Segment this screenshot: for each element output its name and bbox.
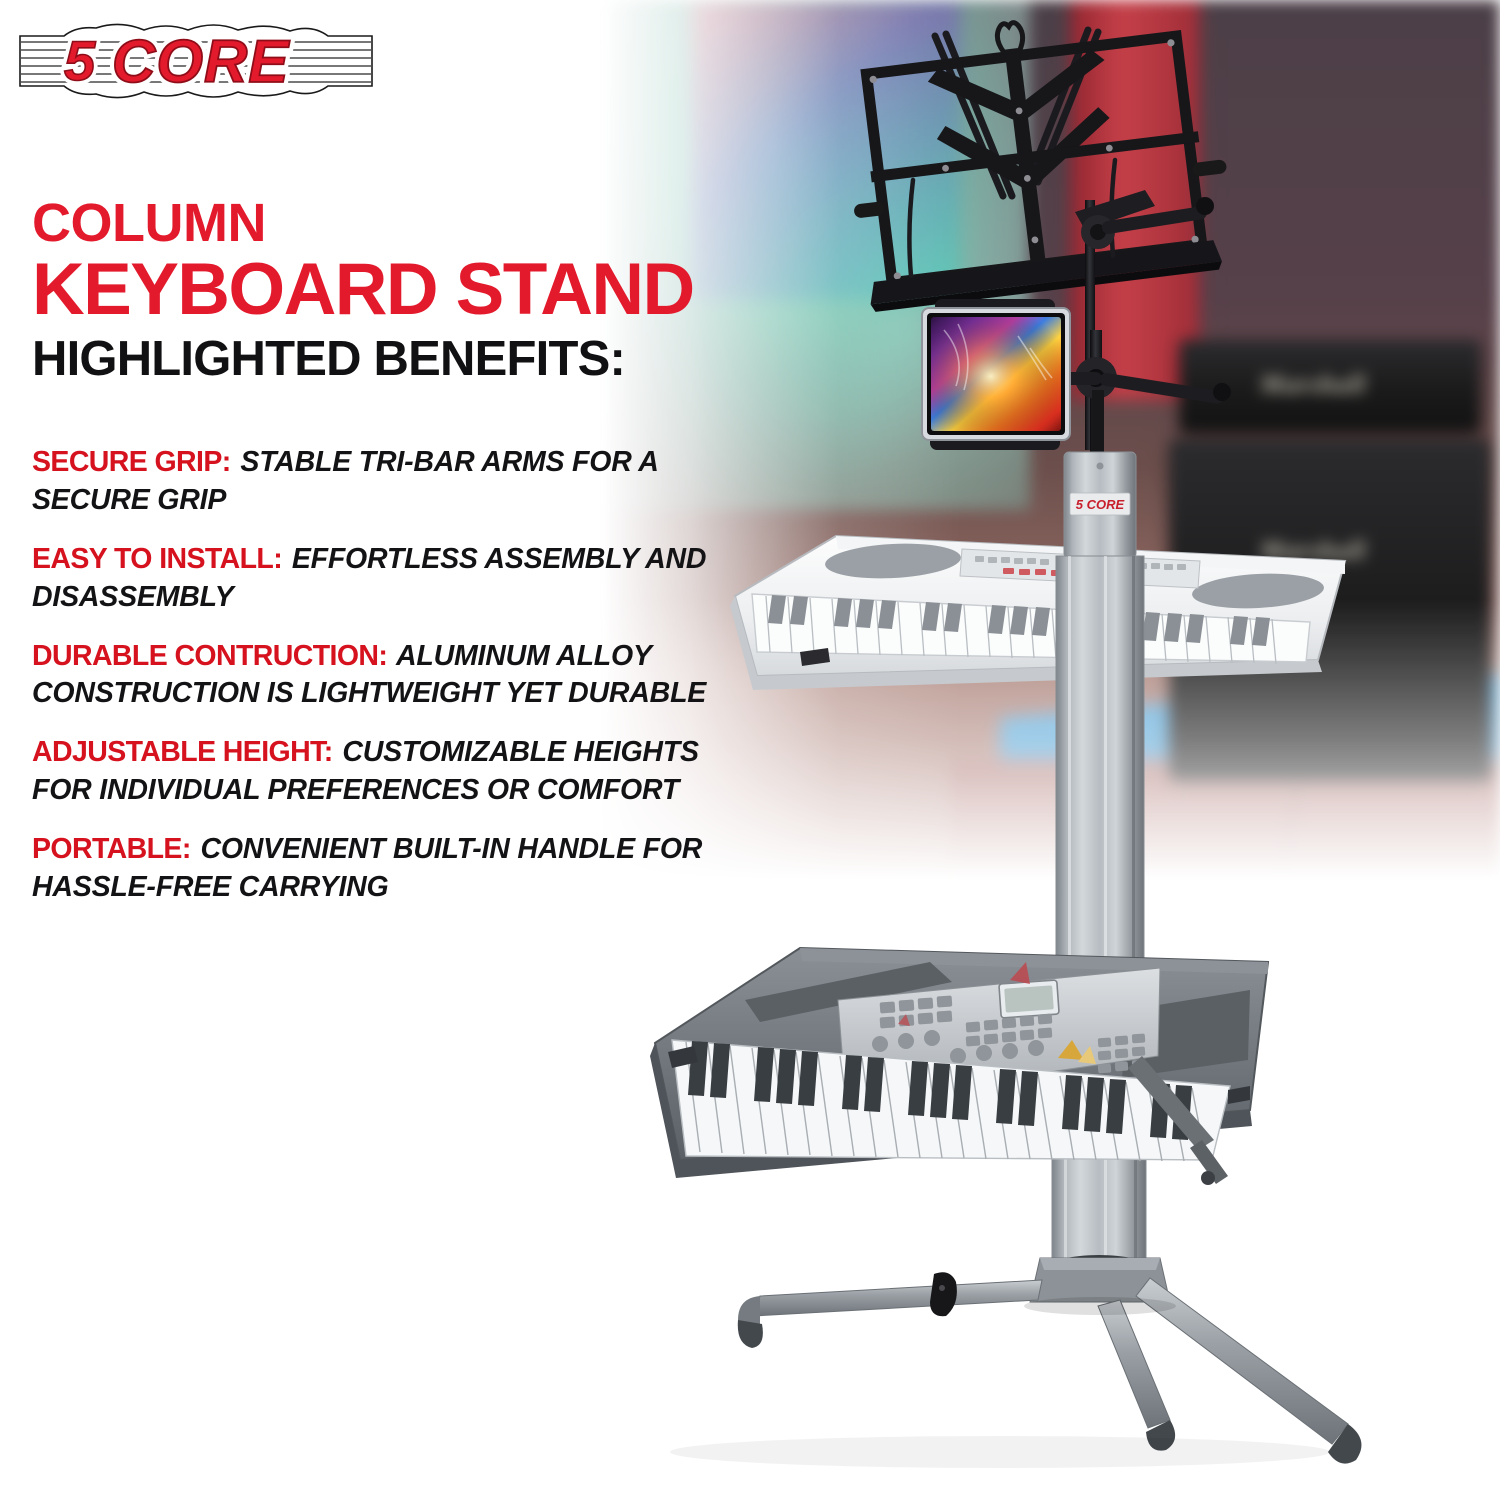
- tripod-base: [738, 1258, 1362, 1464]
- product-infographic-canvas: Marshall Marshall: [0, 0, 1500, 1500]
- tablet-device: [922, 299, 1070, 450]
- product-image: 5 CORE: [0, 0, 1500, 1500]
- music-sheet-holder: [853, 2, 1227, 312]
- lower-keyboard: [650, 948, 1268, 1178]
- upper-keyboard: [730, 536, 1345, 690]
- leg-clamp-lever: [930, 1272, 957, 1316]
- column-badge-text: 5 CORE: [1076, 497, 1125, 512]
